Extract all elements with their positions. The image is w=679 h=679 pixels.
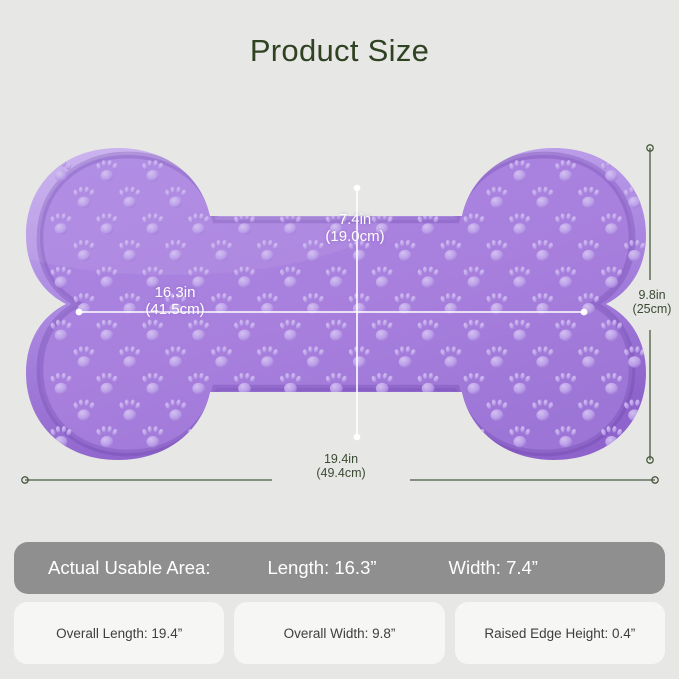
paw-print-icon <box>256 399 279 421</box>
paw-print-icon <box>440 186 463 208</box>
paw-print-icon <box>348 399 371 421</box>
paw-print-icon <box>279 160 302 182</box>
spec-card-label: Overall Length: 19.4” <box>56 626 182 641</box>
page-title: Product Size <box>0 33 679 69</box>
paw-print-icon <box>210 399 233 421</box>
paw-print-icon <box>371 426 394 448</box>
paw-print-icon <box>417 160 440 182</box>
paw-print-icon <box>623 293 646 315</box>
spec-card-overall-length: Overall Length: 19.4” <box>14 602 224 664</box>
dimension-line-overall-length <box>22 477 658 483</box>
usable-area-banner: Actual Usable Area: Length: 16.3” Width:… <box>14 542 665 594</box>
paw-print-icon <box>394 186 417 208</box>
paw-print-icon <box>233 426 256 448</box>
paw-print-icon <box>440 399 463 421</box>
usable-area-width: Width: 7.4” <box>449 557 538 579</box>
usable-area-length: Length: 16.3” <box>267 557 376 579</box>
paw-print-icon <box>233 160 256 182</box>
mat-surface <box>0 130 632 453</box>
usable-area-title: Actual Usable Area: <box>48 557 210 579</box>
dimension-line-overall-height <box>647 145 653 463</box>
spec-card-list: Overall Length: 19.4” Overall Width: 9.8… <box>14 602 665 664</box>
paw-print-icon <box>279 426 302 448</box>
paw-print-icon <box>302 186 325 208</box>
paw-print-icon <box>302 399 325 421</box>
spec-card-overall-width: Overall Width: 9.8” <box>234 602 444 664</box>
spec-card-label: Overall Width: 9.8” <box>284 626 396 641</box>
paw-print-icon <box>325 160 348 182</box>
paw-print-icon <box>371 160 394 182</box>
bone-lick-mat-illustration <box>0 130 679 510</box>
spec-card-label: Raised Edge Height: 0.4” <box>484 626 635 641</box>
product-image: 7.4in (19.0cm) 16.3in (41.5cm) 9.8in (25… <box>0 130 679 510</box>
paw-print-icon <box>256 186 279 208</box>
paw-print-icon <box>394 399 417 421</box>
paw-print-icon <box>210 186 233 208</box>
paw-print-icon <box>417 426 440 448</box>
paw-print-icon <box>325 426 348 448</box>
spec-card-raised-edge-height: Raised Edge Height: 0.4” <box>455 602 665 664</box>
